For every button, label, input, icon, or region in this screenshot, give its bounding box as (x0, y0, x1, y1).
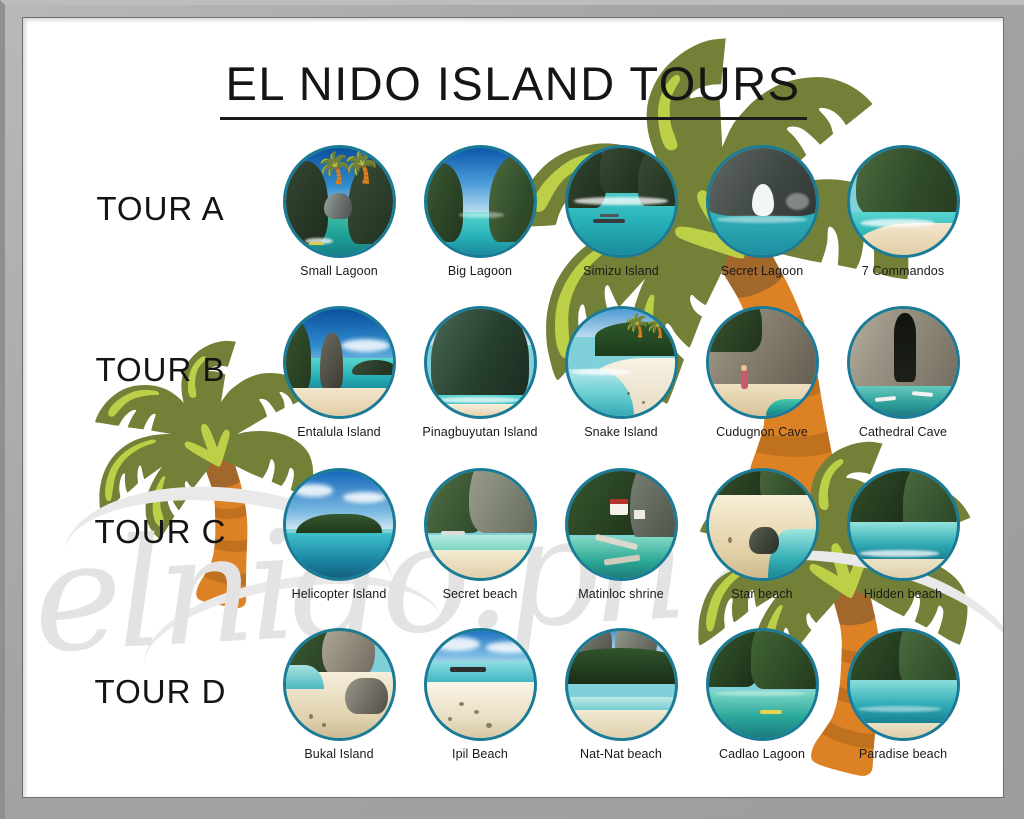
thumbnail-scene (568, 471, 675, 578)
destination-caption: Matinloc shrine (550, 587, 692, 601)
thumbnail-scene (568, 148, 675, 255)
destination-cell[interactable]: Entalula Island (268, 306, 410, 466)
thumbnail-scene (709, 309, 816, 416)
destination-thumbnail-star-beach[interactable] (706, 468, 819, 581)
destination-cell[interactable]: 🌴 🌴 Small Lagoon (268, 145, 410, 305)
destination-thumbnail-helicopter-island[interactable] (283, 468, 396, 581)
destination-cell[interactable]: Cudugnon Cave (691, 306, 833, 466)
destination-caption: Cathedral Cave (832, 425, 974, 439)
destination-thumbnail-matinloc-shrine[interactable] (565, 468, 678, 581)
destination-cell[interactable]: Hidden beach (832, 468, 974, 628)
tour-row: TOUR A 🌴 🌴 Small Lagoon Big Lagoon Simiz… (23, 145, 1003, 305)
destination-cell[interactable]: Big Lagoon (409, 145, 551, 305)
poster-sheet: 🌴 🌴 🌴 elnido.ph EL NIDO ISLAND TOURS TOU… (22, 17, 1004, 798)
destination-caption: Secret Lagoon (691, 264, 833, 278)
destination-thumbnail-simizu-island[interactable] (565, 145, 678, 258)
destination-caption: Cudugnon Cave (691, 425, 833, 439)
destination-caption: Paradise beach (832, 747, 974, 761)
thumbnail-scene: 🌴 🌴 (286, 148, 393, 255)
thumbnail-scene (286, 471, 393, 578)
destination-caption: Small Lagoon (268, 264, 410, 278)
destination-thumbnail-big-lagoon[interactable] (424, 145, 537, 258)
destination-cell[interactable]: Pinagbuyutan Island (409, 306, 551, 466)
thumbnail-scene (850, 631, 957, 738)
destination-cell[interactable]: Matinloc shrine (550, 468, 692, 628)
destination-cell[interactable]: Helicopter Island (268, 468, 410, 628)
destination-cell[interactable]: Simizu Island (550, 145, 692, 305)
thumbnail-scene (286, 309, 393, 416)
destination-thumbnail-seven-commandos[interactable] (847, 145, 960, 258)
destination-thumbnail-cadlao-lagoon[interactable] (706, 628, 819, 741)
destination-caption: 7 Commandos (832, 264, 974, 278)
destination-thumbnail-cudugnon-cave[interactable] (706, 306, 819, 419)
thumbnail-scene (427, 148, 534, 255)
destination-cell[interactable]: Secret beach (409, 468, 551, 628)
thumbnail-scene (427, 631, 534, 738)
destination-thumbnail-snake-island[interactable]: 🌴 🌴 (565, 306, 678, 419)
destination-cell[interactable]: Cathedral Cave (832, 306, 974, 466)
tour-row-label: TOUR C (53, 513, 268, 551)
tour-row: TOUR D Bukal Island Ipil Beach Nat-Nat b… (23, 628, 1003, 788)
destination-thumbnail-paradise-beach[interactable] (847, 628, 960, 741)
destination-cell[interactable]: 🌴 🌴 Snake Island (550, 306, 692, 466)
destination-cells: Bukal Island Ipil Beach Nat-Nat beach Ca… (268, 628, 980, 788)
thumbnail-scene (709, 148, 816, 255)
thumbnail-scene (850, 148, 957, 255)
tour-row-label: TOUR B (53, 351, 268, 389)
destination-thumbnail-pinagbuyutan-island[interactable] (424, 306, 537, 419)
destination-thumbnail-secret-beach[interactable] (424, 468, 537, 581)
tour-row-label: TOUR D (53, 673, 268, 711)
poster-frame: 🌴 🌴 🌴 elnido.ph EL NIDO ISLAND TOURS TOU… (0, 0, 1024, 819)
destination-thumbnail-entalula-island[interactable] (283, 306, 396, 419)
destination-thumbnail-secret-lagoon[interactable] (706, 145, 819, 258)
destination-cells: Entalula Island Pinagbuyutan Island 🌴 🌴 … (268, 306, 980, 466)
destination-caption: Snake Island (550, 425, 692, 439)
thumbnail-scene (427, 471, 534, 578)
destination-caption: Ipil Beach (409, 747, 551, 761)
destination-caption: Hidden beach (832, 587, 974, 601)
destination-thumbnail-small-lagoon[interactable]: 🌴 🌴 (283, 145, 396, 258)
destination-cell[interactable]: 7 Commandos (832, 145, 974, 305)
destination-caption: Big Lagoon (409, 264, 551, 278)
destination-cell[interactable]: Paradise beach (832, 628, 974, 788)
destination-caption: Cadlao Lagoon (691, 747, 833, 761)
destination-cell[interactable]: Star beach (691, 468, 833, 628)
destination-caption: Star beach (691, 587, 833, 601)
tour-rows: TOUR A 🌴 🌴 Small Lagoon Big Lagoon Simiz… (23, 18, 1003, 797)
thumbnail-scene (850, 471, 957, 578)
destination-thumbnail-hidden-beach[interactable] (847, 468, 960, 581)
thumbnail-scene (427, 309, 534, 416)
thumbnail-scene (709, 631, 816, 738)
tour-row-label: TOUR A (53, 190, 268, 228)
tour-row: TOUR B Entalula Island Pinagbuyutan Isla… (23, 306, 1003, 466)
destination-caption: Helicopter Island (268, 587, 410, 601)
destination-caption: Nat-Nat beach (550, 747, 692, 761)
destination-caption: Bukal Island (268, 747, 410, 761)
thumbnail-scene (709, 471, 816, 578)
destination-caption: Pinagbuyutan Island (409, 425, 551, 439)
destination-thumbnail-ipil-beach[interactable] (424, 628, 537, 741)
thumbnail-scene (568, 631, 675, 738)
destination-cell[interactable]: Cadlao Lagoon (691, 628, 833, 788)
thumbnail-scene (850, 309, 957, 416)
destination-cell[interactable]: Secret Lagoon (691, 145, 833, 305)
thumbnail-scene (286, 631, 393, 738)
destination-thumbnail-bukal-island[interactable] (283, 628, 396, 741)
destination-caption: Entalula Island (268, 425, 410, 439)
destination-cell[interactable]: Nat-Nat beach (550, 628, 692, 788)
thumbnail-scene: 🌴 🌴 (568, 309, 675, 416)
destination-cell[interactable]: Bukal Island (268, 628, 410, 788)
destination-caption: Secret beach (409, 587, 551, 601)
destination-cell[interactable]: Ipil Beach (409, 628, 551, 788)
destination-caption: Simizu Island (550, 264, 692, 278)
tour-row: TOUR C Helicopter Island Secret beach Ma… (23, 468, 1003, 628)
destination-thumbnail-cathedral-cave[interactable] (847, 306, 960, 419)
destination-cells: 🌴 🌴 Small Lagoon Big Lagoon Simizu Islan… (268, 145, 980, 305)
destination-thumbnail-nat-nat-beach[interactable] (565, 628, 678, 741)
destination-cells: Helicopter Island Secret beach Matinloc … (268, 468, 980, 628)
